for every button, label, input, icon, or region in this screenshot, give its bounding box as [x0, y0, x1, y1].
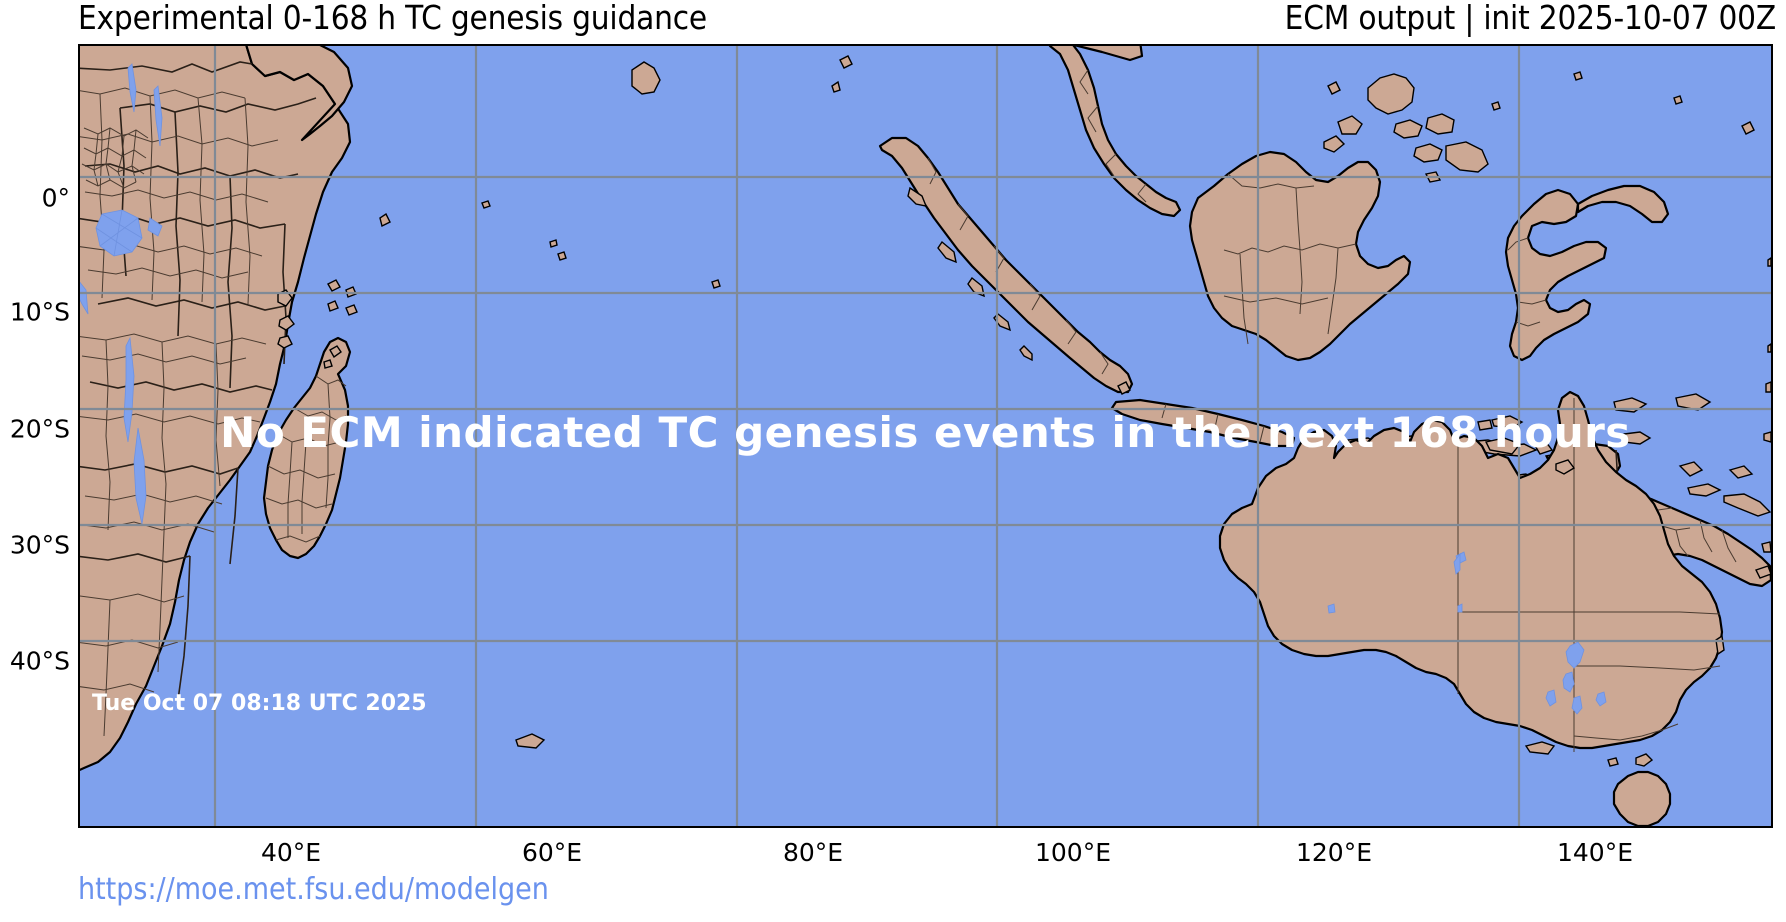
bathurst-island: [1478, 420, 1492, 430]
ytick-label-40s: 40°S: [10, 647, 70, 676]
seychelles-island: [482, 201, 490, 208]
islet-micronesia-2: [1674, 96, 1682, 104]
islet-indian-ocean-2: [558, 252, 566, 260]
islet-micronesia-4: [1492, 102, 1500, 110]
mauritius-island: [550, 240, 557, 247]
king-island: [1608, 758, 1618, 766]
timestamp-label: Tue Oct 07 08:18 UTC 2025: [92, 691, 427, 716]
islet-east-1: [1768, 258, 1771, 266]
page-title: Experimental 0-168 h TC genesis guidance: [78, 0, 707, 37]
xtick-label-140e: 140°E: [1557, 838, 1633, 867]
islet-chagos: [712, 280, 720, 288]
fraser-island: [1716, 636, 1724, 654]
ytick-label-10s: 10°S: [10, 298, 70, 327]
bougainville-island: [1762, 542, 1771, 552]
xtick-label-60e: 60°E: [522, 838, 582, 867]
source-url-link[interactable]: https://moe.met.fsu.edu/modelgen: [78, 872, 549, 907]
xtick-label-40e: 40°E: [261, 838, 321, 867]
islet-vanuatu-2: [1766, 382, 1771, 392]
islet-newcaledonia: [1764, 432, 1771, 442]
ytick-label-30s: 30°S: [10, 531, 70, 560]
xtick-label-80e: 80°E: [783, 838, 843, 867]
ytick-label-20s: 20°S: [10, 415, 70, 444]
ytick-label-0: 0°: [42, 184, 70, 213]
xtick-label-100e: 100°E: [1035, 838, 1111, 867]
figure-title-row: Experimental 0-168 h TC genesis guidance…: [0, 0, 1786, 42]
islet-micronesia-3: [1574, 72, 1582, 80]
madagascar-islet-2: [324, 360, 332, 368]
tasmania: [1614, 772, 1670, 826]
tc-genesis-figure: Experimental 0-168 h TC genesis guidance…: [0, 0, 1786, 922]
xtick-label-120e: 120°E: [1296, 838, 1372, 867]
islet-vanuatu: [1768, 344, 1771, 352]
model-init-label: ECM output | init 2025-10-07 00Z: [1285, 0, 1776, 37]
